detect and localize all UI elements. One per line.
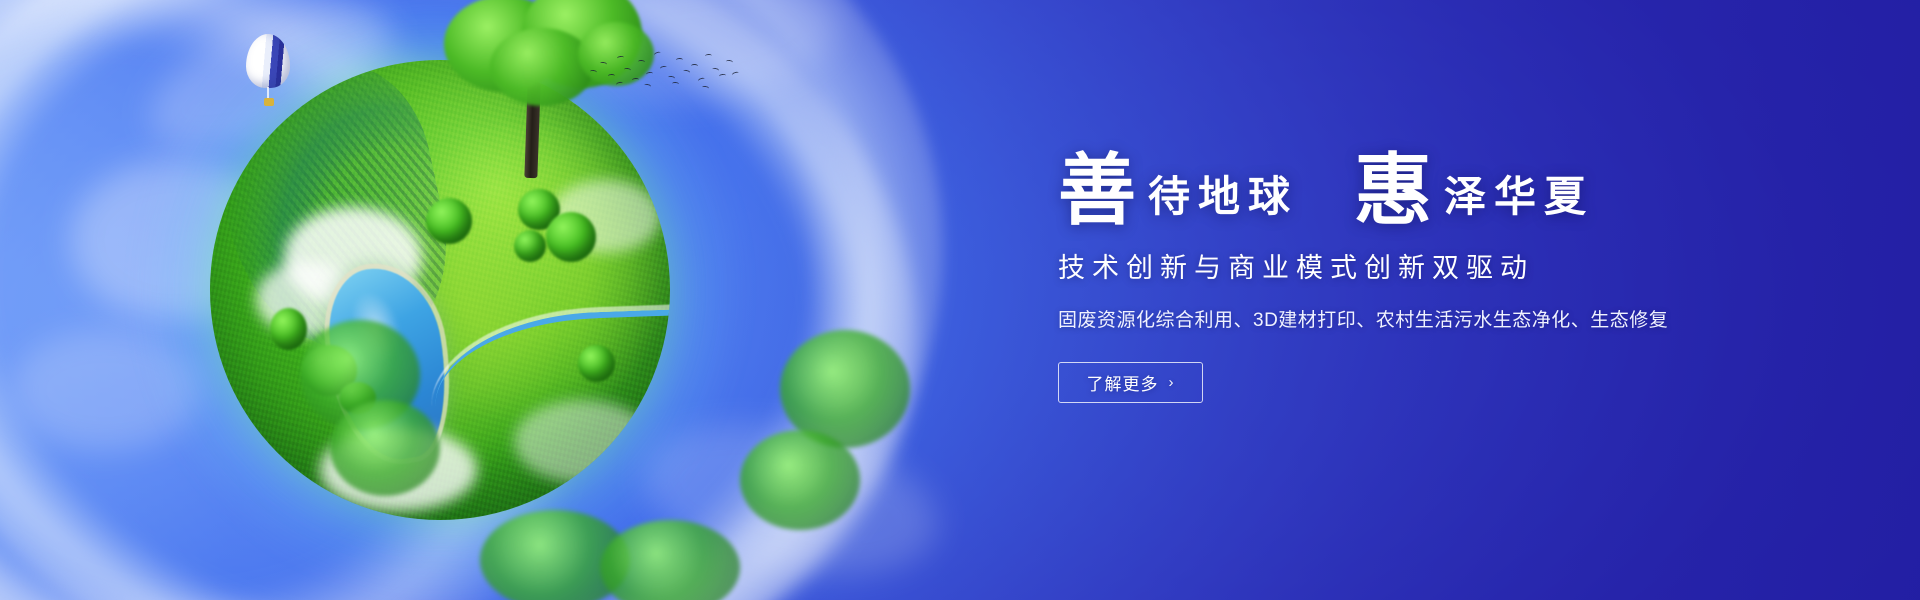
- bird-icon: [590, 70, 597, 75]
- bird-icon: [676, 58, 683, 62]
- rim-tree: [740, 430, 860, 530]
- tree-clump: [578, 345, 615, 382]
- bird-icon: [654, 51, 662, 57]
- bird-icon: [726, 60, 733, 65]
- bird-icon: [698, 77, 706, 83]
- hero-banner: 善 待地球 惠 泽华夏 技术创新与商业模式创新双驱动 固废资源化综合利用、3D建…: [0, 0, 1920, 600]
- page-title: 善 待地球 惠 泽华夏: [1058, 128, 1818, 224]
- rim-tree: [330, 400, 440, 496]
- bird-flock: [586, 44, 736, 96]
- headline-text-daidiqiu: 待地球: [1136, 176, 1298, 218]
- bird-icon: [712, 67, 720, 72]
- bird-icon: [608, 74, 615, 78]
- banner-description: 固废资源化综合利用、3D建材打印、农村生活污水生态净化、生态修复: [1058, 305, 1818, 332]
- bird-icon: [672, 82, 679, 86]
- bird-icon: [691, 64, 698, 68]
- tree-clump: [426, 198, 472, 244]
- bird-icon: [600, 61, 608, 66]
- banner-subtitle: 技术创新与商业模式创新双驱动: [1058, 246, 1818, 285]
- learn-more-button[interactable]: 了解更多 ›: [1058, 362, 1203, 403]
- headline-char-hui: 惠: [1354, 152, 1432, 230]
- chevron-right-icon: ›: [1169, 375, 1175, 390]
- tree-clump: [514, 230, 546, 262]
- bird-icon: [632, 78, 639, 82]
- bird-icon: [616, 81, 624, 87]
- bird-icon: [638, 60, 645, 64]
- hot-air-balloon: [246, 34, 290, 112]
- bird-icon: [644, 83, 652, 88]
- bird-icon: [705, 54, 712, 58]
- bird-icon: [617, 56, 624, 61]
- tree-canopy: [490, 28, 594, 106]
- bird-icon: [624, 68, 631, 73]
- headline-char-shan: 善: [1058, 152, 1136, 230]
- bird-icon: [702, 85, 710, 90]
- bird-icon: [719, 74, 726, 79]
- bird-icon: [660, 65, 668, 70]
- bird-icon: [683, 69, 691, 74]
- bird-icon: [668, 75, 676, 80]
- headline-text-zehuaxia: 泽华夏: [1432, 176, 1594, 218]
- balloon-envelope: [246, 34, 290, 88]
- planet-cloud: [514, 400, 652, 483]
- banner-content: 善 待地球 惠 泽华夏 技术创新与商业模式创新双驱动 固废资源化综合利用、3D建…: [1058, 128, 1818, 403]
- bird-icon: [646, 72, 653, 77]
- learn-more-label: 了解更多: [1087, 370, 1159, 395]
- balloon-basket: [264, 98, 274, 106]
- tree-clump: [270, 308, 307, 349]
